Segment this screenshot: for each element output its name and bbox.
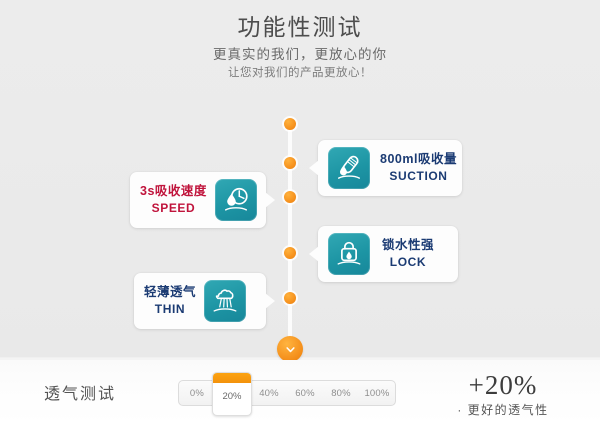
feature-card-thin[interactable]: 轻薄透气 THIN (134, 273, 266, 329)
timeline-dot-5 (284, 292, 296, 304)
feature-label-cn: 800ml吸收量 (380, 152, 457, 168)
clock-droplet-icon (215, 179, 257, 221)
result-value: +20% (428, 370, 578, 400)
scale-tick-0[interactable]: 0% (179, 388, 215, 399)
percentage-scale[interactable]: 0% 20% 40% 60% 80% 100% (178, 380, 396, 406)
card-pointer-left (309, 160, 319, 176)
card-pointer-right (265, 293, 275, 309)
feature-label-en: SUCTION (389, 169, 447, 184)
feature-label-en: LOCK (390, 255, 426, 270)
feature-text-suction: 800ml吸收量 SUCTION (380, 152, 457, 184)
breathability-test-label: 透气测试 (44, 380, 116, 404)
result-block: +20% · 更好的透气性 (428, 370, 578, 418)
page-subtitle: 更真实的我们，更放心的你 (0, 44, 600, 65)
chevron-down-icon[interactable] (277, 336, 303, 362)
padlock-droplet-icon (328, 233, 370, 275)
card-pointer-right (265, 192, 275, 208)
timeline-dot-2 (284, 157, 296, 169)
card-pointer-left (309, 246, 319, 262)
timeline-dot-4 (284, 247, 296, 259)
test-tube-droplet-icon (328, 147, 370, 189)
result-note: · 更好的透气性 (428, 401, 578, 418)
feature-label-en: THIN (155, 302, 185, 317)
timeline-dot-1 (284, 118, 296, 130)
feature-label-cn: 锁水性强 (382, 238, 434, 254)
page-title: 功能性测试 (0, 12, 600, 42)
feature-card-suction[interactable]: 800ml吸收量 SUCTION (318, 140, 462, 196)
timeline-dot-3 (284, 191, 296, 203)
marker-value: 20% (222, 391, 241, 402)
scale-tick-2[interactable]: 40% (251, 388, 287, 399)
feature-text-thin: 轻薄透气 THIN (144, 285, 196, 317)
scale-tick-5[interactable]: 100% (359, 388, 395, 399)
page-header: 功能性测试 更真实的我们，更放心的你 让您对我们的产品更放心！ (0, 12, 600, 82)
promo-page: 功能性测试 更真实的我们，更放心的你 让您对我们的产品更放心！ 3s吸收速度 S… (0, 0, 600, 425)
feature-label-en: SPEED (152, 201, 196, 216)
feature-text-lock: 锁水性强 LOCK (382, 238, 434, 270)
scale-selected-marker[interactable]: 20% (212, 372, 252, 416)
feature-label-cn: 3s吸收速度 (140, 184, 207, 200)
tree-airflow-icon (204, 280, 246, 322)
timeline (288, 118, 292, 348)
feature-text-speed: 3s吸收速度 SPEED (140, 184, 207, 216)
feature-card-speed[interactable]: 3s吸收速度 SPEED (130, 172, 266, 228)
marker-top-bar (213, 373, 251, 383)
feature-card-lock[interactable]: 锁水性强 LOCK (318, 226, 458, 282)
feature-label-cn: 轻薄透气 (144, 285, 196, 301)
scale-tick-4[interactable]: 80% (323, 388, 359, 399)
page-subtitle-secondary: 让您对我们的产品更放心！ (0, 65, 600, 82)
scale-tick-3[interactable]: 60% (287, 388, 323, 399)
